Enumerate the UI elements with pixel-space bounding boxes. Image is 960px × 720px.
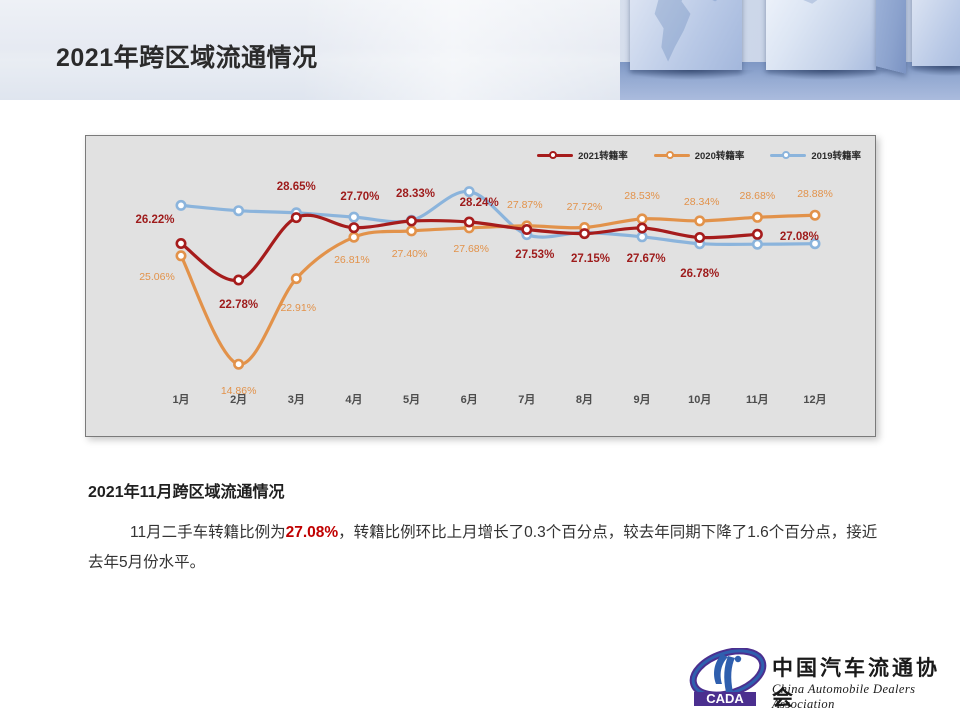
- paragraph-prefix: 11月二手车转籍比例为: [130, 524, 286, 541]
- world-map-texture-icon: [912, 0, 960, 66]
- data-label-2020转籍率: 28.34%: [684, 196, 720, 208]
- header-cube-graphic: [620, 0, 960, 100]
- data-label-2020转籍率: 28.68%: [740, 190, 776, 202]
- data-label-2021转籍率: 26.22%: [135, 214, 174, 226]
- data-label-2020转籍率: 27.87%: [507, 199, 543, 211]
- data-label-2021转籍率: 22.78%: [219, 299, 258, 311]
- series-marker-2020转籍率[interactable]: [638, 215, 646, 223]
- x-tick-label: 10月: [688, 391, 711, 407]
- series-marker-2019转籍率[interactable]: [465, 187, 473, 195]
- x-tick-label: 8月: [576, 391, 593, 407]
- x-tick-label: 5月: [403, 391, 420, 407]
- data-label-2020转籍率: 28.53%: [624, 190, 660, 202]
- series-marker-2021转籍率[interactable]: [292, 213, 300, 221]
- series-marker-2021转籍率[interactable]: [696, 233, 704, 241]
- x-tick-label: 6月: [461, 391, 478, 407]
- data-label-2021转籍率: 28.65%: [277, 181, 316, 193]
- data-label-2020转籍率: 27.68%: [453, 243, 489, 255]
- chart-panel: 2021转籍率2020转籍率2019转籍率 1月2月3月4月5月6月7月8月9月…: [85, 135, 876, 437]
- series-marker-2021转籍率[interactable]: [177, 239, 185, 247]
- series-marker-2019转籍率[interactable]: [177, 201, 185, 209]
- x-tick-label: 4月: [345, 391, 362, 407]
- series-marker-2021转籍率[interactable]: [234, 276, 242, 284]
- series-marker-2021转籍率[interactable]: [407, 217, 415, 225]
- world-map-texture-icon: [766, 0, 876, 70]
- series-marker-2020转籍率[interactable]: [753, 213, 761, 221]
- series-marker-2020转籍率[interactable]: [407, 227, 415, 235]
- body-paragraph: 11月二手车转籍比例为27.08%，转籍比例环比上月增长了0.3个百分点，较去年…: [88, 518, 878, 578]
- series-marker-2021转籍率[interactable]: [350, 224, 358, 232]
- series-marker-2021转籍率[interactable]: [638, 224, 646, 232]
- data-label-2021转籍率: 27.53%: [515, 249, 554, 261]
- cada-logo: CADA 中国汽车流通协会 China Automobile Dealers A…: [688, 648, 946, 710]
- series-marker-2021转籍率[interactable]: [580, 229, 588, 237]
- data-label-2021转籍率: 27.67%: [627, 253, 666, 265]
- series-marker-2019转籍率[interactable]: [638, 233, 646, 241]
- data-label-2020转籍率: 27.72%: [567, 201, 603, 213]
- data-label-2021转籍率: 27.15%: [571, 253, 610, 265]
- cube-left: [630, 0, 742, 70]
- world-map-texture-icon: [630, 0, 742, 70]
- x-tick-label: 12月: [803, 391, 826, 407]
- x-tick-label: 9月: [634, 391, 651, 407]
- data-label-2020转籍率: 25.06%: [139, 271, 175, 283]
- series-marker-2020转籍率[interactable]: [811, 211, 819, 219]
- series-marker-2021转籍率[interactable]: [523, 225, 531, 233]
- data-label-2021转籍率: 27.08%: [780, 231, 819, 243]
- x-tick-label: 1月: [172, 391, 189, 407]
- data-label-2021转籍率: 27.70%: [340, 191, 379, 203]
- data-label-2020转籍率: 14.86%: [221, 385, 257, 397]
- series-marker-2020转籍率[interactable]: [177, 252, 185, 260]
- series-marker-2019转籍率[interactable]: [350, 213, 358, 221]
- series-marker-2020转籍率[interactable]: [292, 274, 300, 282]
- chart-x-axis: 1月2月3月4月5月6月7月8月9月10月11月12月: [86, 391, 877, 413]
- x-tick-label: 3月: [288, 391, 305, 407]
- header-sheen-highlight: [300, 0, 640, 100]
- series-marker-2019转籍率[interactable]: [234, 207, 242, 215]
- dotted-divider: [380, 489, 886, 492]
- data-label-2021转籍率: 28.33%: [396, 188, 435, 200]
- series-marker-2020转籍率[interactable]: [696, 217, 704, 225]
- cube-center-shadow: [762, 70, 888, 80]
- paragraph-highlight-value: 27.08%: [286, 524, 339, 541]
- cada-emblem-icon: CADA: [688, 648, 772, 706]
- x-tick-label: 11月: [746, 391, 769, 407]
- cube-left-shadow: [626, 70, 754, 80]
- x-tick-label: 7月: [518, 391, 535, 407]
- page-title: 2021年跨区域流通情况: [56, 38, 318, 74]
- data-label-2020转籍率: 22.91%: [280, 302, 316, 314]
- cube-center: [766, 0, 876, 70]
- section-title: 2021年11月跨区域流通情况: [88, 478, 285, 502]
- data-label-2021转籍率: 26.78%: [680, 268, 719, 280]
- data-label-2021转籍率: 28.24%: [460, 197, 499, 209]
- series-marker-2021转籍率[interactable]: [465, 218, 473, 226]
- series-marker-2020转籍率[interactable]: [350, 233, 358, 241]
- page-header: 2021年跨区域流通情况: [0, 0, 960, 100]
- data-label-2020转籍率: 27.40%: [392, 248, 428, 260]
- series-marker-2019转籍率[interactable]: [753, 240, 761, 248]
- series-marker-2021转籍率[interactable]: [753, 230, 761, 238]
- logo-name-en: China Automobile Dealers Association: [772, 682, 946, 712]
- data-label-2020转籍率: 26.81%: [334, 254, 370, 266]
- data-label-2020转籍率: 28.88%: [797, 188, 833, 200]
- series-marker-2020转籍率[interactable]: [234, 360, 242, 368]
- cube-right: [912, 0, 960, 66]
- cube-center-side: [876, 0, 906, 74]
- cada-mark-text: CADA: [706, 691, 744, 706]
- cube-right-shadow: [908, 66, 960, 76]
